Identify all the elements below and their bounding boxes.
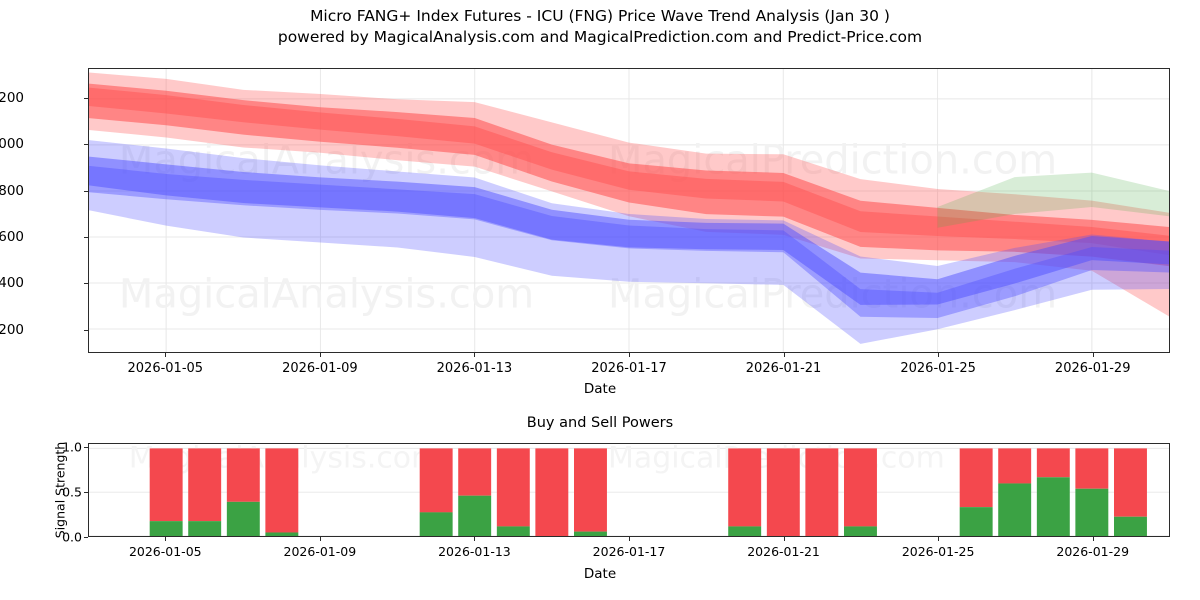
price-y-tick-label: 15200: [0, 322, 24, 338]
buy-power-segment: [458, 496, 491, 536]
buy-power-segment: [420, 512, 453, 536]
signal-x-tick-mark: [320, 537, 321, 541]
buy-power-segment: [188, 521, 221, 536]
signal-x-tick-mark: [165, 537, 166, 541]
sell-power-segment: [188, 448, 221, 521]
signal-bar: [767, 448, 800, 536]
sell-power-segment: [497, 448, 530, 526]
price-x-tick-label: 2026-01-21: [746, 361, 822, 376]
price-x-tick-label: 2026-01-25: [900, 361, 976, 376]
price-x-axis-label: Date: [0, 381, 1200, 397]
signal-bar: [497, 448, 530, 536]
signal-bar: [420, 448, 453, 536]
buy-power-segment: [497, 526, 530, 536]
signal-bar: [960, 448, 993, 536]
sell-power-segment: [844, 448, 877, 526]
sell-power-segment: [420, 448, 453, 512]
signal-x-tick-mark: [629, 537, 630, 541]
price-axis-label: Price: [0, 150, 4, 183]
signal-bar: [535, 448, 568, 536]
title-line-2: powered by MagicalAnalysis.com and Magic…: [0, 27, 1200, 48]
price-x-tick-label: 2026-01-13: [437, 361, 513, 376]
signal-bar: [150, 448, 183, 536]
sell-power-segment: [150, 448, 183, 521]
price-x-tick-label: 2026-01-29: [1055, 361, 1131, 376]
signal-bar: [805, 448, 838, 536]
sell-power-segment: [767, 448, 800, 536]
signal-bar: [265, 448, 298, 536]
price-y-tick-label: 16000: [0, 136, 24, 152]
signal-bar: [1075, 448, 1108, 536]
buy-power-segment: [265, 532, 298, 536]
price-x-tick-mark: [1093, 353, 1094, 357]
signal-bar: [227, 448, 260, 536]
signal-bar: [1114, 448, 1147, 536]
signal-y-tick-label: 1.0: [38, 440, 82, 455]
signal-y-tick-label: 0.5: [38, 485, 82, 500]
signal-bar: [1037, 448, 1070, 536]
signal-bar: [188, 448, 221, 536]
signal-x-tick-label: 2026-01-09: [284, 544, 357, 559]
price-y-tick-label: 16200: [0, 90, 24, 106]
sell-power-segment: [1075, 448, 1108, 488]
sell-power-segment: [1114, 448, 1147, 516]
buy-power-segment: [1075, 489, 1108, 536]
price-x-tick-mark: [629, 353, 630, 357]
signal-bar: [458, 448, 491, 536]
signal-bar: [998, 448, 1031, 536]
buy-power-segment: [574, 532, 607, 536]
watermark-text: MagicalAnalysis.com: [119, 271, 534, 317]
chart-page: Micro FANG+ Index Futures - ICU (FNG) Pr…: [0, 0, 1200, 600]
sell-power-segment: [998, 448, 1031, 483]
signal-x-tick-label: 2026-01-25: [902, 544, 975, 559]
signal-bar: [728, 448, 761, 536]
sell-power-segment: [458, 448, 491, 495]
sell-power-segment: [265, 448, 298, 532]
sell-power-segment: [1037, 448, 1070, 477]
signal-x-tick-label: 2026-01-17: [593, 544, 666, 559]
sell-power-segment: [728, 448, 761, 526]
price-y-tick-label: 15400: [0, 275, 24, 291]
signal-x-tick-mark: [938, 537, 939, 541]
buy-power-segment: [1037, 477, 1070, 536]
title-line-1: Micro FANG+ Index Futures - ICU (FNG) Pr…: [0, 6, 1200, 27]
buy-power-segment: [998, 483, 1031, 536]
signal-bar: [844, 448, 877, 536]
sell-power-segment: [227, 448, 260, 501]
signal-x-axis-label: Date: [0, 566, 1200, 582]
price-chart-plot-area: MagicalAnalysis.comMagicalPrediction.com…: [88, 68, 1170, 353]
signal-y-tick-mark: [84, 537, 88, 538]
price-x-tick-mark: [320, 353, 321, 357]
signal-x-tick-mark: [1093, 537, 1094, 541]
price-x-tick-label: 2026-01-17: [591, 361, 667, 376]
signal-chart-title: Buy and Sell Powers: [0, 415, 1200, 431]
signal-x-tick-label: 2026-01-13: [438, 544, 511, 559]
signal-x-tick-mark: [474, 537, 475, 541]
signal-bar: [574, 448, 607, 536]
signal-x-tick-label: 2026-01-29: [1056, 544, 1129, 559]
price-x-tick-mark: [165, 353, 166, 357]
price-x-tick-label: 2026-01-05: [128, 361, 204, 376]
signal-x-tick-mark: [784, 537, 785, 541]
buy-sell-bars-svg: MagicalAnalysis.comMagicalPrediction.com: [89, 444, 1169, 536]
buy-power-segment: [728, 526, 761, 536]
page-title: Micro FANG+ Index Futures - ICU (FNG) Pr…: [0, 6, 1200, 48]
price-x-tick-mark: [474, 353, 475, 357]
sell-power-segment: [805, 448, 838, 536]
price-wave-svg: MagicalAnalysis.comMagicalPrediction.com…: [89, 69, 1169, 352]
price-y-tick-label: 15600: [0, 229, 24, 245]
signal-y-tick-label: 0.0: [38, 530, 82, 545]
price-x-tick-label: 2026-01-09: [282, 361, 358, 376]
sell-power-segment: [960, 448, 993, 507]
price-y-tick-label: 15800: [0, 183, 24, 199]
sell-power-segment: [574, 448, 607, 531]
price-x-tick-mark: [938, 353, 939, 357]
price-x-tick-mark: [784, 353, 785, 357]
signal-x-tick-label: 2026-01-21: [747, 544, 820, 559]
buy-power-segment: [1114, 517, 1147, 536]
signal-x-tick-label: 2026-01-05: [129, 544, 202, 559]
buy-power-segment: [150, 521, 183, 536]
buy-power-segment: [227, 502, 260, 536]
buy-power-segment: [960, 507, 993, 536]
sell-power-segment: [535, 448, 568, 536]
buy-power-segment: [844, 526, 877, 536]
signal-chart-plot-area: MagicalAnalysis.comMagicalPrediction.com: [88, 443, 1170, 537]
